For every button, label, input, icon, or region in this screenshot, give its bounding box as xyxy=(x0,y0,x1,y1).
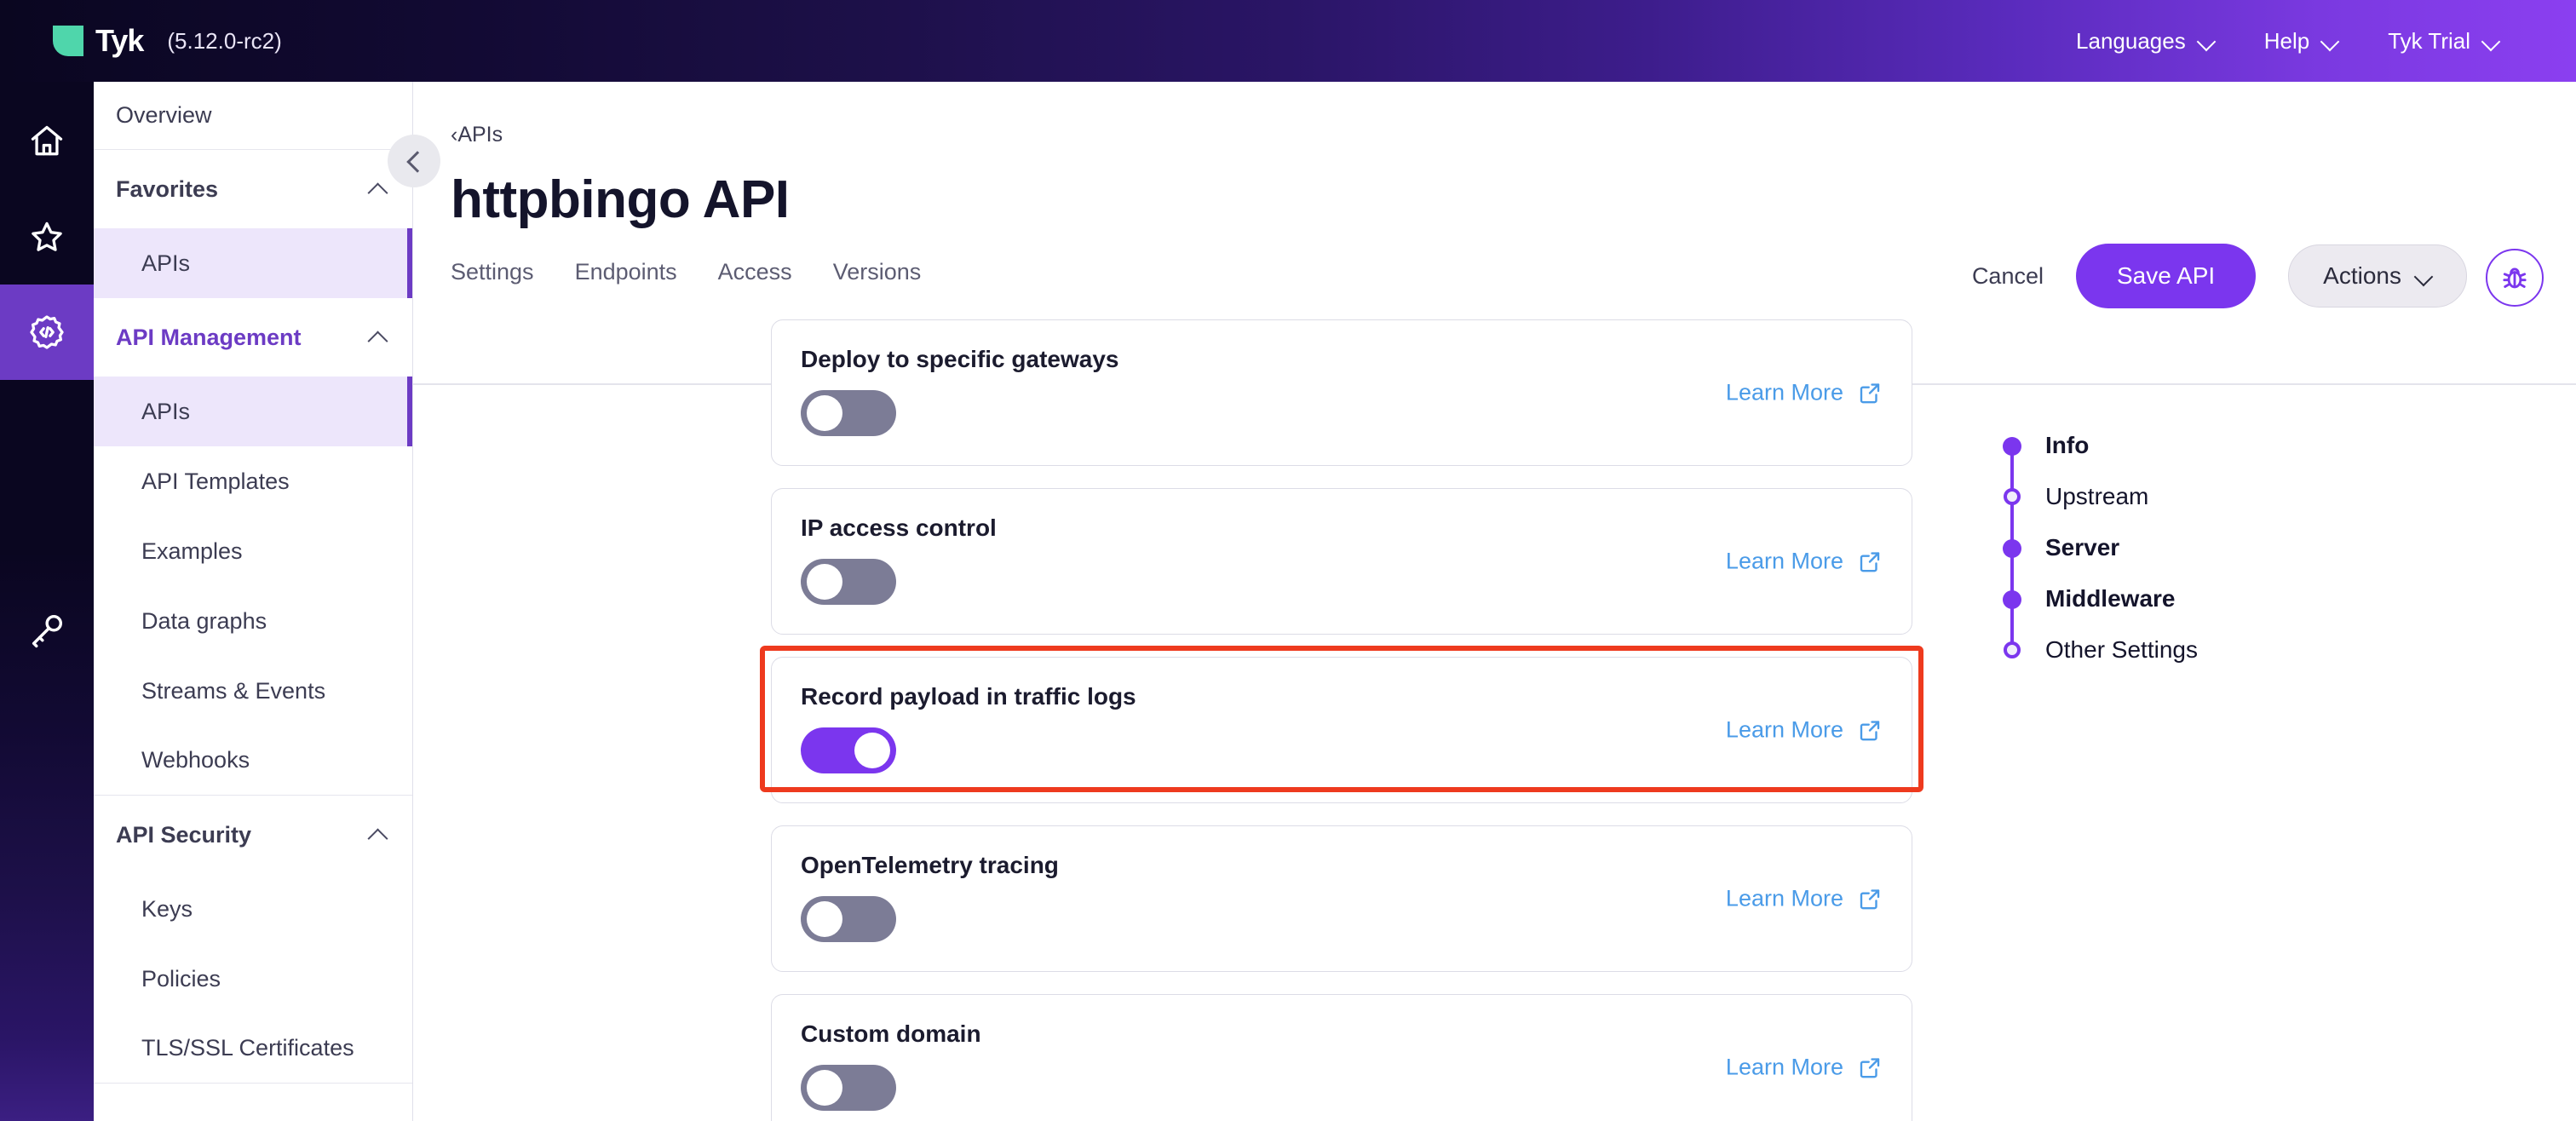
stepper-item-middleware-label: Middleware xyxy=(2045,585,2175,612)
sidebar-item-tls-ssl-certificates-label: TLS/SSL Certificates xyxy=(141,1035,354,1061)
rail-item-home[interactable] xyxy=(0,94,94,189)
topnav-languages[interactable]: Languages xyxy=(2076,28,2215,55)
chevron-down-icon xyxy=(2199,33,2215,49)
learn-more-label: Learn More xyxy=(1726,717,1843,744)
sidebar-item-examples-label: Examples xyxy=(141,538,243,565)
sidebar-item-apis-label: APIs xyxy=(141,399,190,425)
key-icon xyxy=(27,611,66,650)
sidebar-item-data-graphs[interactable]: Data graphs xyxy=(94,586,412,656)
cancel-button[interactable]: Cancel xyxy=(1972,263,2044,290)
stepper-item-server-label: Server xyxy=(2045,534,2119,560)
page-actions: Cancel Save API Actions xyxy=(1972,244,2532,308)
topnav-account[interactable]: Tyk Trial xyxy=(2388,28,2499,55)
stepper-dot-filled-icon xyxy=(2003,539,2021,558)
learn-more-label: Learn More xyxy=(1726,549,1843,575)
icon-rail xyxy=(0,82,94,1121)
chevron-down-icon xyxy=(2323,33,2338,49)
topnav-help-label: Help xyxy=(2264,28,2309,55)
sidebar-collapse-button[interactable] xyxy=(388,135,440,187)
stepper-dot-col xyxy=(1998,432,2027,456)
toggle-custom-domain[interactable] xyxy=(801,1065,896,1111)
stepper-dot-filled-icon xyxy=(2003,590,2021,609)
top-nav: Languages Help Tyk Trial xyxy=(2076,28,2499,55)
brand-logo[interactable]: Tyk (5.12.0-rc2) xyxy=(53,23,282,59)
setting-card-title: OpenTelemetry tracing xyxy=(801,852,1883,879)
rail-item-api-management[interactable] xyxy=(0,285,94,380)
external-link-icon xyxy=(1857,1055,1883,1080)
sidebar-item-keys-label: Keys xyxy=(141,896,193,923)
stepper-item-upstream[interactable]: Upstream xyxy=(1998,483,2198,534)
sidebar-item-webhooks[interactable]: Webhooks xyxy=(94,726,412,796)
learn-more-link-ip-access-control[interactable]: Learn More xyxy=(1726,549,1883,575)
setting-card-title: Deploy to specific gateways xyxy=(801,346,1883,373)
stepper-item-server[interactable]: Server xyxy=(1998,534,2198,585)
sidebar-item-examples[interactable]: Examples xyxy=(94,516,412,586)
breadcrumb-label: APIs xyxy=(457,123,503,147)
sidebar-group-favorites[interactable]: Favorites xyxy=(94,150,412,228)
toggle-ip-access-control[interactable] xyxy=(801,559,896,605)
sidebar-item-keys[interactable]: Keys xyxy=(94,874,412,944)
setting-card-custom-domain: Custom domain Learn More xyxy=(771,994,1912,1121)
setting-card-title: Record payload in traffic logs xyxy=(801,683,1883,710)
sidebar-item-data-graphs-label: Data graphs xyxy=(141,608,267,635)
sidebar-group-api-management[interactable]: API Management xyxy=(94,298,412,377)
toggle-knob xyxy=(807,1070,842,1106)
toggle-knob xyxy=(807,564,842,600)
stepper-dot-hollow-icon xyxy=(2004,488,2021,505)
learn-more-label: Learn More xyxy=(1726,886,1843,912)
sidebar-item-policies-label: Policies xyxy=(141,966,221,992)
sidebar-nav-panel: Overview Favorites APIs API Management A… xyxy=(94,82,413,1121)
setting-card-title: IP access control xyxy=(801,515,1883,542)
sidebar-group-api-security-label: API Security xyxy=(116,822,251,848)
sidebar-group-api-security[interactable]: API Security xyxy=(94,796,412,874)
external-link-icon xyxy=(1857,717,1883,743)
stepper-item-info[interactable]: Info xyxy=(1998,432,2198,483)
api-management-icon xyxy=(27,313,66,352)
sidebar-item-api-templates[interactable]: API Templates xyxy=(94,446,412,516)
setting-card-title: Custom domain xyxy=(801,1020,1883,1048)
setting-card-deploy-gateways: Deploy to specific gateways Learn More xyxy=(771,319,1912,466)
version-label: (5.12.0-rc2) xyxy=(167,28,281,55)
toggle-knob xyxy=(807,395,842,431)
stepper-item-other-settings-label: Other Settings xyxy=(2045,636,2198,663)
stepper-item-upstream-label: Upstream xyxy=(2045,483,2148,509)
stepper-item-middleware[interactable]: Middleware xyxy=(1998,585,2198,636)
toggle-record-payload[interactable] xyxy=(801,727,896,773)
sidebar-item-streams-events[interactable]: Streams & Events xyxy=(94,656,412,726)
chevron-up-icon xyxy=(370,181,387,198)
topnav-languages-label: Languages xyxy=(2076,28,2186,55)
page-title: httpbingo API xyxy=(451,170,2576,230)
rail-item-favorites[interactable] xyxy=(0,189,94,285)
main-content: ‹APIs httpbingo API Settings Endpoints A… xyxy=(413,82,2576,1121)
rail-item-api-security[interactable] xyxy=(0,583,94,678)
bug-icon xyxy=(2499,262,2530,293)
app-root: Tyk (5.12.0-rc2) Languages Help Tyk Tria… xyxy=(0,0,2576,1121)
settings-card-list: Deploy to specific gateways Learn More I… xyxy=(771,319,1912,1121)
sidebar-group-favorites-label: Favorites xyxy=(116,176,218,203)
sidebar-item-api-templates-label: API Templates xyxy=(141,469,290,495)
tab-access[interactable]: Access xyxy=(718,259,792,302)
topnav-help[interactable]: Help xyxy=(2264,28,2338,55)
tab-endpoints[interactable]: Endpoints xyxy=(575,259,677,302)
actions-dropdown-label: Actions xyxy=(2323,262,2401,290)
stepper-dot-hollow-icon xyxy=(2004,641,2021,658)
chevron-up-icon xyxy=(370,826,387,843)
top-header-bar: Tyk (5.12.0-rc2) Languages Help Tyk Tria… xyxy=(0,0,2576,82)
stepper-item-other-settings[interactable]: Other Settings xyxy=(1998,636,2198,687)
learn-more-link-custom-domain[interactable]: Learn More xyxy=(1726,1055,1883,1081)
stepper-dot-filled-icon xyxy=(2003,437,2021,456)
setting-card-opentelemetry-tracing: OpenTelemetry tracing Learn More xyxy=(771,825,1912,972)
tab-settings[interactable]: Settings xyxy=(451,259,534,302)
topnav-account-label: Tyk Trial xyxy=(2388,28,2470,55)
debug-button[interactable] xyxy=(2486,249,2544,307)
setting-card-record-payload: Record payload in traffic logs Learn Mor… xyxy=(771,657,1912,803)
external-link-icon xyxy=(1857,549,1883,574)
star-icon xyxy=(28,218,66,256)
settings-body: Deploy to specific gateways Learn More I… xyxy=(413,319,2576,1121)
chevron-down-icon xyxy=(2484,33,2499,49)
sidebar-item-tls-ssl-certificates[interactable]: TLS/SSL Certificates xyxy=(94,1014,412,1084)
tab-versions[interactable]: Versions xyxy=(833,259,922,302)
toggle-knob xyxy=(807,901,842,937)
learn-more-label: Learn More xyxy=(1726,1055,1843,1081)
learn-more-link-opentelemetry-tracing[interactable]: Learn More xyxy=(1726,886,1883,912)
chevron-up-icon xyxy=(370,329,387,346)
learn-more-label: Learn More xyxy=(1726,380,1843,406)
external-link-icon xyxy=(1857,380,1883,405)
toggle-knob xyxy=(854,733,890,768)
sidebar-item-overview-label: Overview xyxy=(116,102,212,129)
sidebar-item-policies[interactable]: Policies xyxy=(94,944,412,1014)
save-api-button[interactable]: Save API xyxy=(2076,244,2256,308)
sidebar-item-favorites-apis-label: APIs xyxy=(141,250,190,277)
tyk-leaf-icon xyxy=(53,26,83,56)
sidebar-item-overview[interactable]: Overview xyxy=(94,82,412,150)
setting-card-ip-access-control: IP access control Learn More xyxy=(771,488,1912,635)
sidebar-item-favorites-apis[interactable]: APIs xyxy=(94,228,412,298)
section-stepper: Info Upstream Server xyxy=(1998,432,2198,687)
learn-more-link-record-payload[interactable]: Learn More xyxy=(1726,717,1883,744)
chevron-left-icon xyxy=(405,152,423,170)
logo-text: Tyk xyxy=(95,23,143,59)
sidebar-item-apis[interactable]: APIs xyxy=(94,377,412,446)
breadcrumb[interactable]: ‹APIs xyxy=(451,123,503,147)
toggle-deploy-gateways[interactable] xyxy=(801,390,896,436)
stepper-item-info-label: Info xyxy=(2045,432,2089,458)
sidebar-item-webhooks-label: Webhooks xyxy=(141,747,250,773)
sidebar-item-streams-events-label: Streams & Events xyxy=(141,678,325,704)
sidebar-group-api-management-label: API Management xyxy=(116,325,302,351)
external-link-icon xyxy=(1857,886,1883,911)
learn-more-link-deploy-gateways[interactable]: Learn More xyxy=(1726,380,1883,406)
home-icon xyxy=(28,123,66,160)
toggle-opentelemetry-tracing[interactable] xyxy=(801,896,896,942)
breadcrumb-back-icon: ‹ xyxy=(451,123,457,147)
chevron-down-icon xyxy=(2417,268,2432,284)
actions-dropdown-button[interactable]: Actions xyxy=(2288,244,2467,308)
